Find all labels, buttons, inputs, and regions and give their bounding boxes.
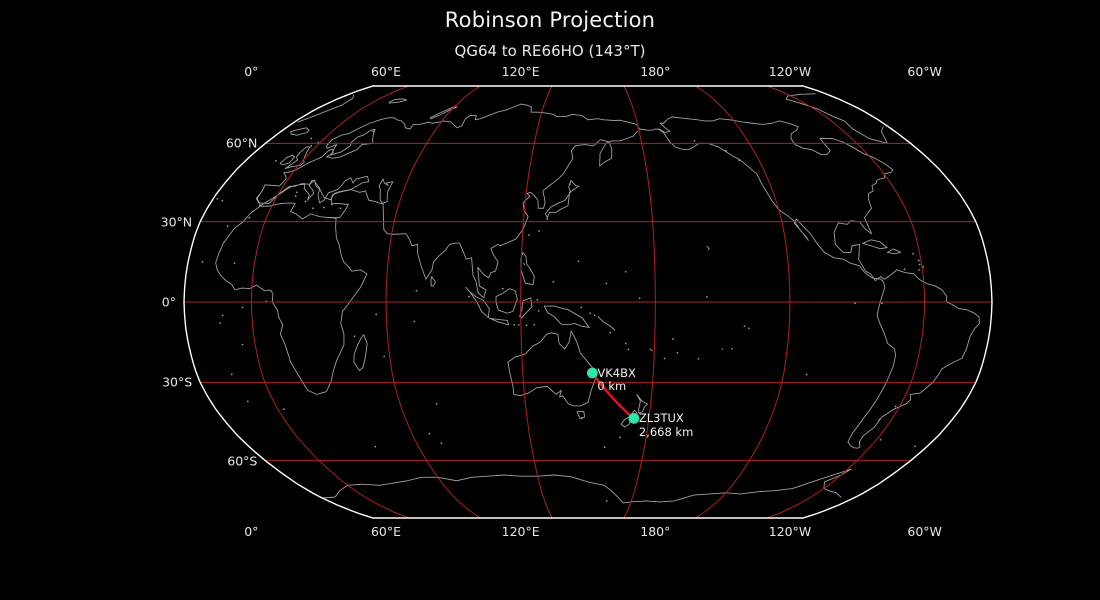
station-marker-zl3tux[interactable] [628,413,639,424]
lat-tick-1: 30°N [161,214,193,229]
lon-tick-bottom-5: 60°W [907,524,942,539]
lon-tick-top-2: 120°E [502,64,540,79]
lat-tick-4: 60°S [227,453,257,468]
map-figure: Robinson Projection QG64 to RE66HO (143°… [0,0,1100,600]
lon-tick-top-3: 180° [640,64,670,79]
station-distance: 2,668 km [639,426,693,440]
station-label-zl3tux: ZL3TUX2,668 km [639,412,693,439]
station-marker-vk4bx[interactable] [587,368,598,379]
lon-tick-bottom-1: 60°E [371,524,401,539]
station-callsign: VK4BX [597,366,636,380]
lon-tick-top-5: 60°W [907,64,942,79]
station-label-vk4bx: VK4BX0 km [597,367,636,394]
lat-tick-0: 60°N [226,136,258,151]
lon-tick-bottom-0: 0° [244,524,258,539]
lon-tick-top-4: 120°W [769,64,811,79]
lon-tick-top-0: 0° [244,64,258,79]
lon-tick-bottom-4: 120°W [769,524,811,539]
lon-tick-bottom-3: 180° [640,524,670,539]
lat-tick-3: 30°S [162,375,192,390]
lon-tick-top-1: 60°E [371,64,401,79]
station-distance: 0 km [597,380,636,394]
lat-tick-2: 0° [162,295,176,310]
lon-tick-bottom-2: 120°E [502,524,540,539]
station-callsign: ZL3TUX [639,411,684,425]
